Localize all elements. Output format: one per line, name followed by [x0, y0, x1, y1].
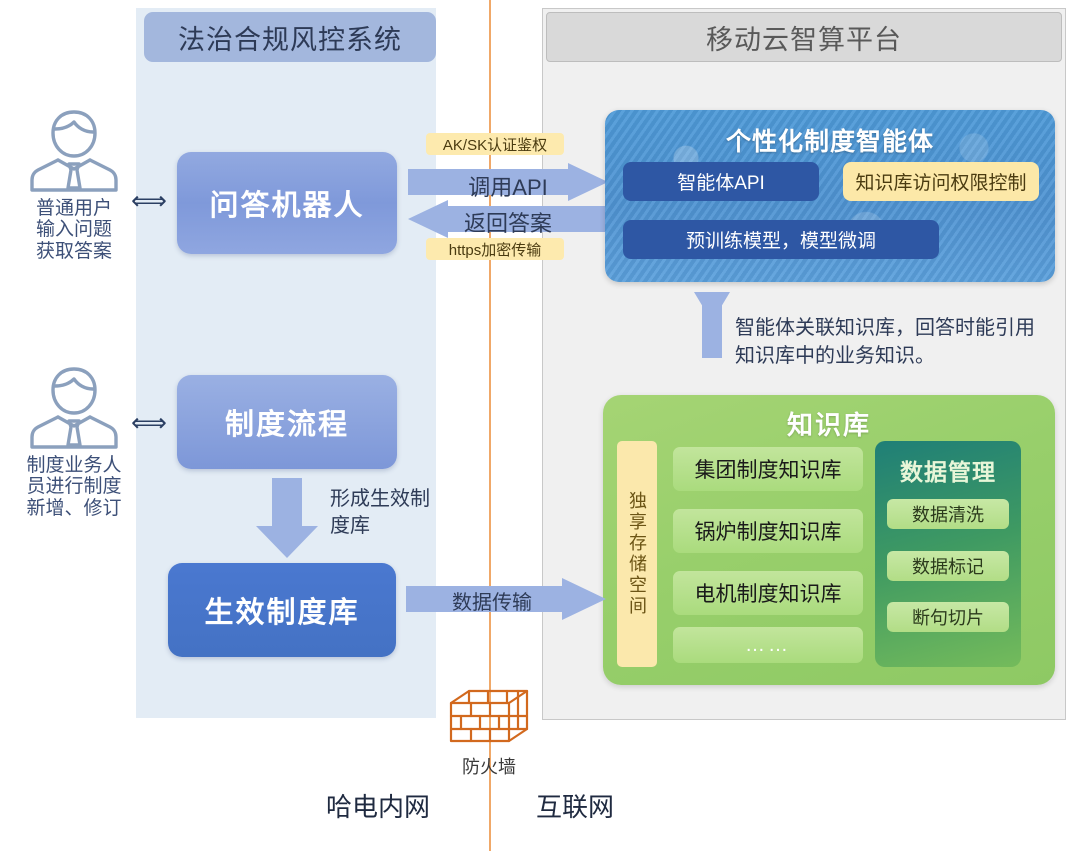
actor-policy-business-staff-label: 制度业务人 员进行制度 新增、修订 [14, 455, 134, 519]
connector-staff-to-flow: ⟺ [122, 410, 176, 436]
kb-exclusive-storage-label: 独享存储空间 [617, 441, 657, 667]
knowledge-base-title: 知识库 [603, 405, 1055, 442]
dm-item-sentence-slicing[interactable]: 断句切片 [887, 602, 1009, 632]
dm-item-data-cleaning[interactable]: 数据清洗 [887, 499, 1009, 529]
dm-item-data-labeling[interactable]: 数据标记 [887, 551, 1009, 581]
agent-personalized-policy[interactable]: 个性化制度智能体 智能体API 知识库访问权限控制 预训练模型，模型微调 [605, 110, 1055, 282]
pill-agent-api[interactable]: 智能体API [623, 162, 819, 201]
arrow-form-effective-db [256, 478, 318, 558]
actor-ordinary-user-label: 普通用户 输入问题 获取答案 [14, 198, 134, 262]
actor-policy-business-staff: 制度业务人 员进行制度 新增、修订 [14, 365, 134, 519]
knowledge-base[interactable]: 知识库 独享存储空间 集团制度知识库 锅炉制度知识库 电机制度知识库 …… 数据… [603, 395, 1055, 685]
firewall-label: 防火墙 [447, 753, 531, 779]
panel-left-title: 法治合规风控系统 [144, 12, 436, 62]
label-call-api: 调用API [418, 170, 598, 202]
actor-ordinary-user: 普通用户 输入问题 获取答案 [14, 108, 134, 262]
connector-user-to-qa: ⟺ [122, 188, 176, 214]
user-person-icon [14, 108, 134, 194]
agent-title: 个性化制度智能体 [605, 122, 1055, 158]
tag-aksk-auth: AK/SK认证鉴权 [426, 133, 564, 155]
data-management[interactable]: 数据管理 数据清洗 数据标记 断句切片 [875, 441, 1021, 667]
label-internet: 互联网 [536, 787, 614, 824]
label-data-transfer: 数据传输 [412, 586, 572, 615]
kb-item-more: …… [673, 627, 863, 663]
box-policy-flow[interactable]: 制度流程 [177, 375, 397, 469]
diagram-canvas: 法治合规风控系统 移动云智算平台 普通用户 输入问题 获取答案 ⟺ [0, 0, 1080, 851]
arrow-agent-to-kb [694, 292, 730, 388]
firewall: 防火墙 [447, 685, 531, 779]
box-effective-policy-db[interactable]: 生效制度库 [168, 563, 396, 657]
kb-item-motor-policy[interactable]: 电机制度知识库 [673, 571, 863, 615]
box-qa-robot[interactable]: 问答机器人 [177, 152, 397, 254]
kb-item-boiler-policy[interactable]: 锅炉制度知识库 [673, 509, 863, 553]
tag-https-encrypted: https加密传输 [426, 238, 564, 260]
firewall-brick-icon [447, 734, 531, 751]
panel-right-title: 移动云智算平台 [546, 12, 1062, 62]
user-person-icon [14, 365, 134, 451]
data-management-title: 数据管理 [875, 453, 1021, 487]
pill-kb-access-control[interactable]: 知识库访问权限控制 [843, 162, 1039, 201]
kb-item-group-policy[interactable]: 集团制度知识库 [673, 447, 863, 491]
label-return-answer: 返回答案 [418, 206, 598, 238]
pill-pretrain-finetune[interactable]: 预训练模型，模型微调 [623, 220, 939, 259]
label-form-effective-db: 形成生效制 度库 [330, 486, 460, 540]
label-agent-link-kb: 智能体关联知识库，回答时能引用 知识库中的业务知识。 [735, 314, 1035, 370]
label-intranet: 哈电内网 [326, 787, 430, 824]
